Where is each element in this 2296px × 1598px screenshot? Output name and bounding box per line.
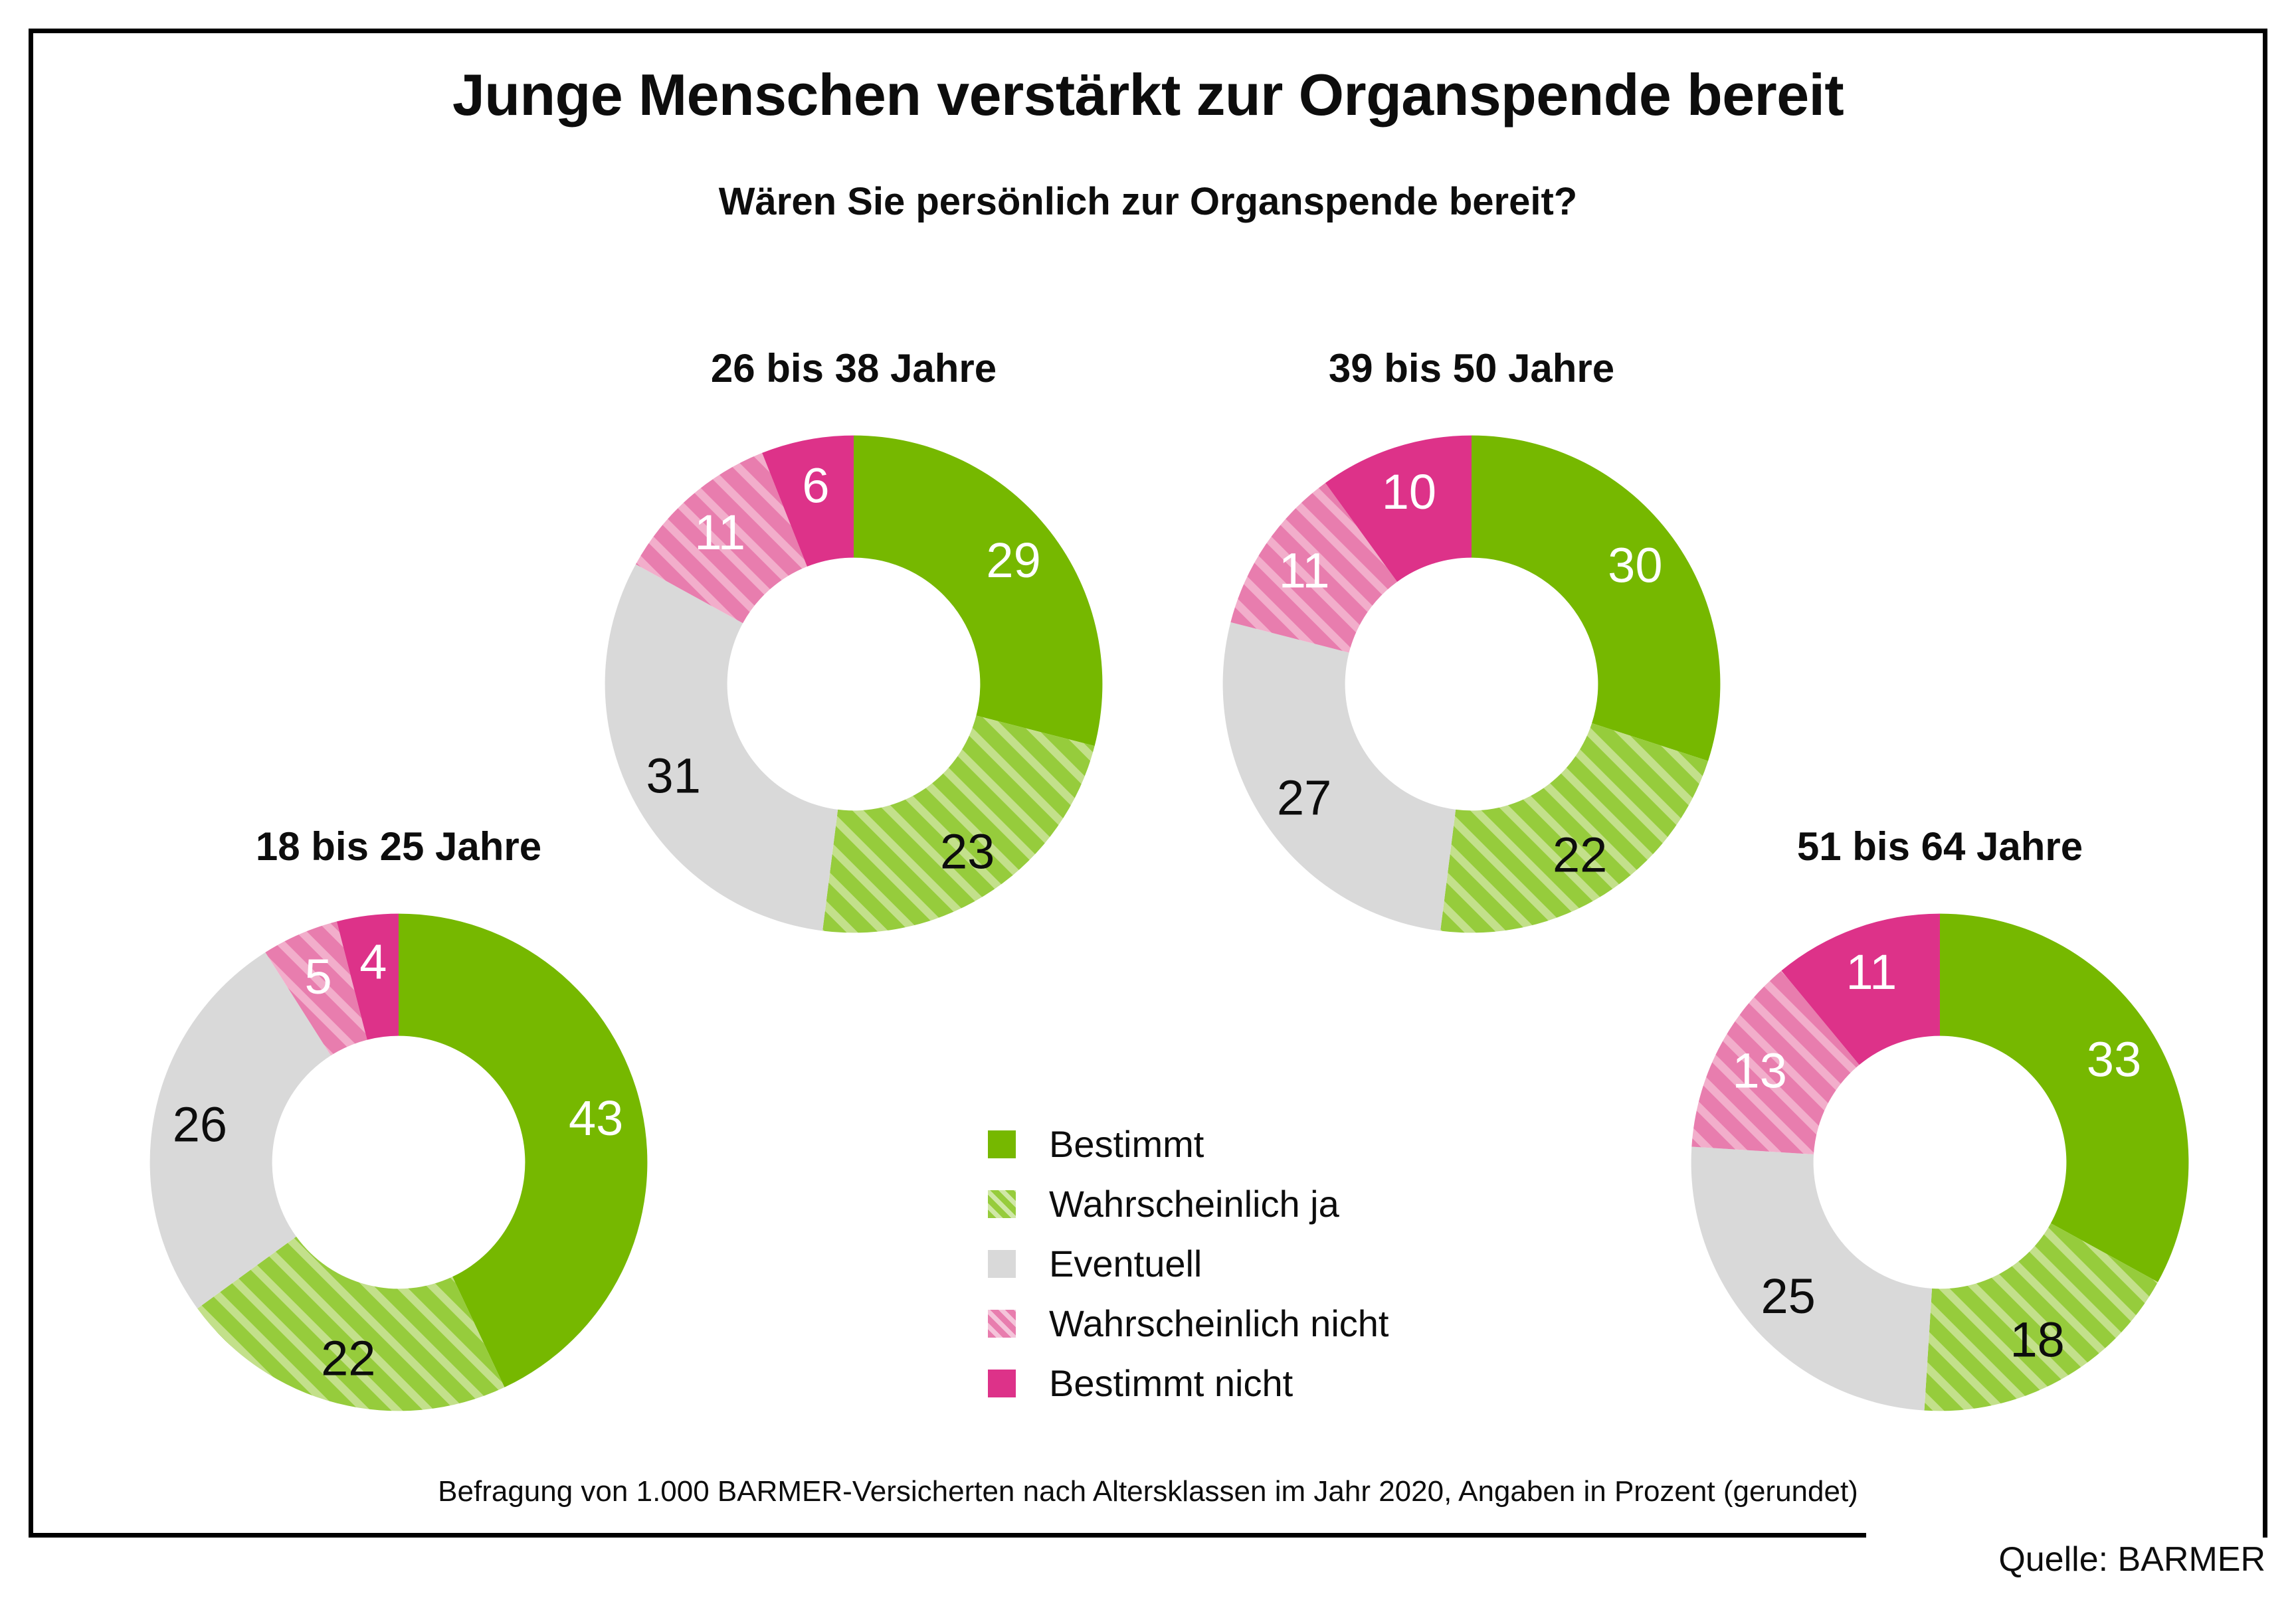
donut-value-label-bestimmt: 43 bbox=[569, 1091, 623, 1146]
chart-legend: Bestimmt Wahrscheinlich ja Eventuell Wah… bbox=[988, 1114, 1388, 1413]
legend-label-wahrscheinlich-ja: Wahrscheinlich ja bbox=[1049, 1186, 1339, 1223]
donut-value-label-wahrscheinlich-nicht: 5 bbox=[304, 949, 332, 1004]
donut-svg-2: 292331116 bbox=[588, 418, 1119, 950]
donut-value-label-wahrscheinlich-nicht: 11 bbox=[694, 505, 745, 560]
page-subtitle: Wären Sie persönlich zur Organspende ber… bbox=[0, 179, 2296, 224]
donut-value-label-bestimmt-nicht: 6 bbox=[802, 458, 829, 513]
donut-value-label-bestimmt: 33 bbox=[2087, 1032, 2141, 1087]
legend-item-eventuell: Eventuell bbox=[988, 1234, 1388, 1294]
donut-chart-2: 26 bis 38 Jahre 292331116 bbox=[588, 345, 1119, 950]
donut-value-label-bestimmt: 29 bbox=[986, 533, 1040, 588]
donut-value-label-bestimmt-nicht: 11 bbox=[1846, 944, 1897, 1000]
donut-value-label-wahrscheinlich-nicht: 13 bbox=[1733, 1043, 1787, 1098]
donut-segment-bestimmt bbox=[1940, 914, 2188, 1283]
page-title: Junge Menschen verstärkt zur Organspende… bbox=[0, 61, 2296, 129]
donut-value-label-wahrscheinlich-ja: 22 bbox=[1553, 828, 1607, 883]
donut-value-label-wahrscheinlich-ja: 18 bbox=[2010, 1312, 2065, 1367]
legend-label-bestimmt: Bestimmt bbox=[1049, 1126, 1204, 1163]
donut-chart-title-1: 18 bis 25 Jahre bbox=[133, 824, 664, 869]
donut-segment-bestimmt bbox=[1472, 436, 1720, 761]
donut-segment-eventuell bbox=[1223, 622, 1456, 931]
legend-swatch-icon-bestimmt bbox=[988, 1130, 1016, 1158]
donut-segment-eventuell bbox=[605, 565, 838, 931]
donut-value-label-eventuell: 25 bbox=[1761, 1269, 1815, 1324]
border-bottom bbox=[29, 1533, 1866, 1538]
donut-segment-bestimmt bbox=[854, 436, 1102, 747]
border-left bbox=[29, 29, 33, 1538]
border-right bbox=[2263, 29, 2267, 1538]
legend-item-bestimmt: Bestimmt bbox=[988, 1114, 1388, 1174]
legend-item-bestimmt-nicht: Bestimmt nicht bbox=[988, 1354, 1388, 1413]
donut-value-label-wahrscheinlich-ja: 22 bbox=[321, 1330, 375, 1385]
donut-svg-4: 3318251311 bbox=[1674, 897, 2206, 1428]
legend-label-wahrscheinlich-nicht: Wahrscheinlich nicht bbox=[1049, 1305, 1388, 1342]
border-top bbox=[29, 29, 2267, 33]
donut-chart-1: 18 bis 25 Jahre 43222654 bbox=[133, 824, 664, 1428]
footnote-text: Befragung von 1.000 BARMER-Versicherten … bbox=[0, 1475, 2296, 1508]
legend-label-eventuell: Eventuell bbox=[1049, 1245, 1202, 1283]
donut-value-label-bestimmt-nicht: 10 bbox=[1382, 464, 1436, 519]
donut-value-label-bestimmt: 30 bbox=[1608, 538, 1662, 593]
legend-label-bestimmt-nicht: Bestimmt nicht bbox=[1049, 1365, 1293, 1402]
legend-swatch-icon-wahrscheinlich-nicht bbox=[988, 1310, 1016, 1338]
donut-chart-title-4: 51 bis 64 Jahre bbox=[1674, 824, 2206, 869]
donut-svg-3: 3022271110 bbox=[1206, 418, 1737, 950]
donut-value-label-eventuell: 27 bbox=[1277, 770, 1331, 826]
legend-swatch-icon-eventuell bbox=[988, 1250, 1016, 1278]
legend-item-wahrscheinlich-nicht: Wahrscheinlich nicht bbox=[988, 1294, 1388, 1354]
donut-value-label-eventuell: 26 bbox=[173, 1097, 227, 1152]
source-label: Quelle: BARMER bbox=[1998, 1540, 2265, 1579]
donut-chart-title-3: 39 bis 50 Jahre bbox=[1206, 345, 1737, 391]
donut-chart-3: 39 bis 50 Jahre 3022271110 bbox=[1206, 345, 1737, 950]
legend-swatch-icon-bestimmt-nicht bbox=[988, 1370, 1016, 1397]
donut-value-label-wahrscheinlich-nicht: 11 bbox=[1279, 543, 1330, 598]
donut-value-label-eventuell: 31 bbox=[646, 749, 701, 804]
donut-value-label-bestimmt-nicht: 4 bbox=[359, 934, 387, 989]
donut-chart-4: 51 bis 64 Jahre 3318251311 bbox=[1674, 824, 2206, 1428]
donut-chart-title-2: 26 bis 38 Jahre bbox=[588, 345, 1119, 391]
donut-value-label-wahrscheinlich-ja: 23 bbox=[940, 824, 995, 879]
legend-item-wahrscheinlich-ja: Wahrscheinlich ja bbox=[988, 1174, 1388, 1234]
legend-swatch-icon-wahrscheinlich-ja bbox=[988, 1190, 1016, 1218]
donut-svg-1: 43222654 bbox=[133, 897, 664, 1428]
